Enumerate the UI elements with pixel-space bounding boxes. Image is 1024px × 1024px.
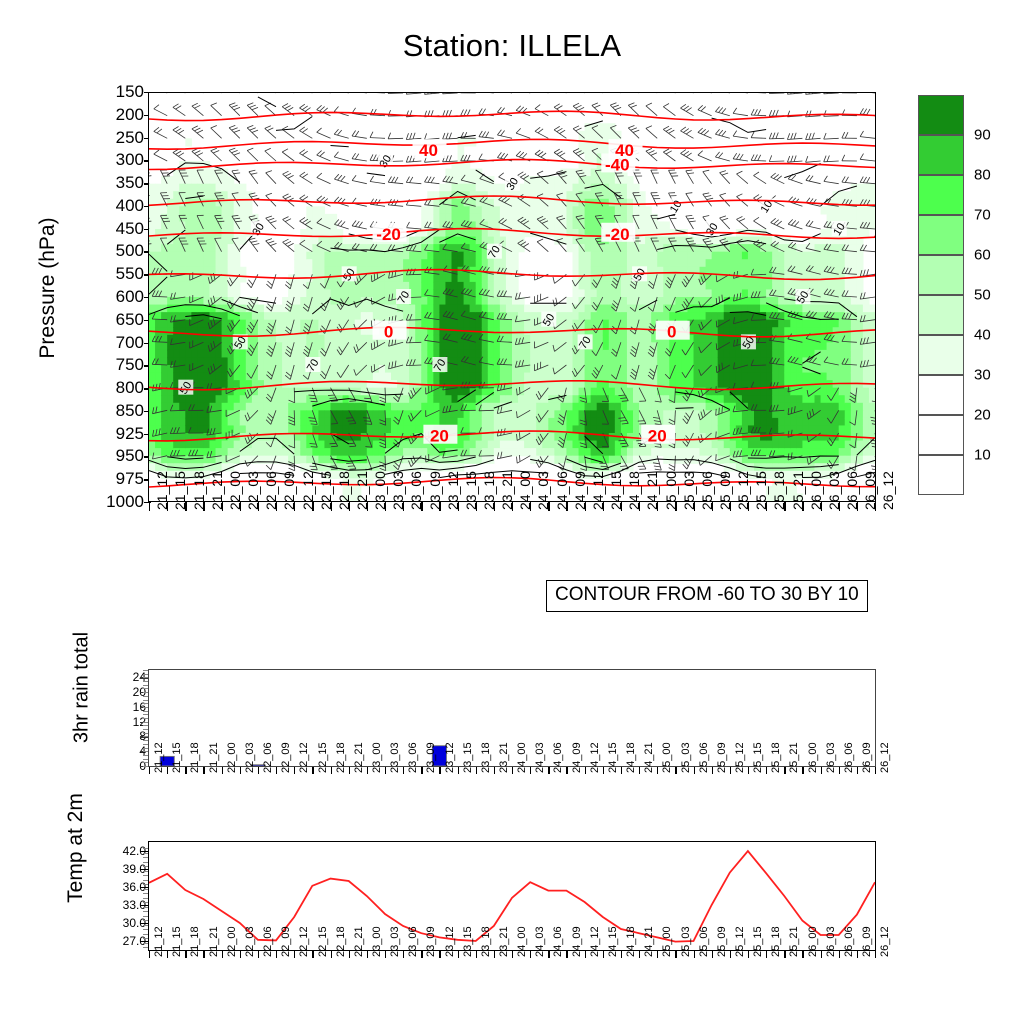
x-tick [240, 951, 241, 958]
temp-line [149, 851, 875, 942]
x-tick [349, 951, 350, 958]
x-tick [675, 767, 676, 774]
temp-panel[interactable] [148, 841, 876, 951]
colorbar-cell[interactable] [918, 375, 964, 415]
rain-bar [432, 746, 446, 766]
x-tick [403, 767, 404, 774]
x-tick [675, 951, 676, 958]
colorbar-label: 50 [974, 287, 991, 304]
rain-y-label: 12 [106, 716, 146, 728]
x-tick [857, 951, 858, 958]
x-tick [694, 767, 695, 774]
x-tick [766, 767, 767, 774]
x-tick [585, 951, 586, 958]
rain-y-axis-labels: 04812162024 [98, 669, 146, 767]
temp-y-label: 36.0 [100, 881, 146, 893]
rain-bar [251, 765, 265, 766]
x-tick [821, 951, 822, 958]
x-tick [421, 502, 422, 511]
colorbar[interactable]: 908070605040302010 [918, 95, 964, 495]
x-tick [494, 951, 495, 958]
x-tick [694, 502, 695, 511]
pressure-label: 800 [80, 379, 144, 396]
temp-line-chart [149, 842, 875, 950]
colorbar-label: 70 [974, 207, 991, 224]
x-tick [367, 767, 368, 774]
x-tick [530, 951, 531, 958]
x-tick [784, 767, 785, 774]
x-tick [294, 502, 295, 511]
x-tick [276, 767, 277, 774]
x-tick [530, 502, 531, 511]
colorbar-cell[interactable] [918, 175, 964, 215]
x-tick [367, 502, 368, 511]
x-tick [494, 502, 495, 511]
x-tick [530, 767, 531, 774]
x-tick [185, 767, 186, 774]
x-tick [675, 502, 676, 511]
x-tick [312, 951, 313, 958]
x-tick [331, 951, 332, 958]
x-tick [403, 951, 404, 958]
x-tick [603, 951, 604, 958]
temp-y-label: 30.0 [100, 917, 146, 929]
x-tick [222, 502, 223, 511]
cross-section-plot: 3050707050503050707070505050303010301010… [149, 93, 875, 501]
colorbar-cell[interactable] [918, 215, 964, 255]
x-tick [276, 502, 277, 511]
x-tick [657, 502, 658, 511]
x-tick [694, 951, 695, 958]
x-tick [730, 951, 731, 958]
x-tick [566, 951, 567, 958]
temp-y-label: 42.0 [100, 845, 146, 857]
pressure-label: 350 [80, 174, 144, 191]
pressure-label: 400 [80, 197, 144, 214]
rain-bar-chart [149, 670, 875, 766]
x-tick [875, 502, 876, 511]
temp-y-label: 27.0 [100, 935, 146, 947]
pressure-label: 1000 [80, 493, 144, 510]
temp-y-label: 33.0 [100, 899, 146, 911]
x-tick [712, 767, 713, 774]
x-tick [639, 502, 640, 511]
x-tick [657, 767, 658, 774]
colorbar-cell[interactable] [918, 455, 964, 495]
x-tick [548, 951, 549, 958]
rain-y-label: 4 [106, 745, 146, 757]
x-tick [857, 502, 858, 511]
x-tick [603, 767, 604, 774]
x-tick [439, 502, 440, 511]
x-tick [203, 767, 204, 774]
x-tick [258, 502, 259, 511]
x-tick [167, 502, 168, 511]
pressure-label: 700 [80, 334, 144, 351]
pressure-tick [144, 502, 151, 503]
x-tick [802, 502, 803, 511]
pressure-label: 200 [80, 106, 144, 123]
colorbar-cell[interactable] [918, 255, 964, 295]
x-tick [421, 951, 422, 958]
pressure-label: 300 [80, 151, 144, 168]
pressure-label: 650 [80, 311, 144, 328]
x-tick [149, 502, 150, 511]
x-tick [240, 767, 241, 774]
x-tick [857, 767, 858, 774]
pressure-label: 500 [80, 242, 144, 259]
x-tick [839, 951, 840, 958]
x-tick [167, 767, 168, 774]
main-y-axis-labels: 1502002503003504004505005506006507007508… [66, 92, 144, 502]
x-tick [367, 951, 368, 958]
x-tick [203, 951, 204, 958]
x-tick [802, 767, 803, 774]
pressure-label: 925 [80, 425, 144, 442]
x-tick [621, 767, 622, 774]
x-tick [585, 767, 586, 774]
x-tick [185, 951, 186, 958]
x-tick [748, 767, 749, 774]
x-tick [548, 767, 549, 774]
pressure-label: 950 [80, 447, 144, 464]
x-tick [476, 502, 477, 511]
x-tick [821, 502, 822, 511]
x-tick [784, 502, 785, 511]
main-y-axis-title: Pressure (hPa) [36, 178, 60, 398]
temp-y-axis-title: Temp at 2m [64, 738, 88, 958]
x-tick [167, 951, 168, 958]
x-tick [222, 767, 223, 774]
colorbar-cell[interactable] [918, 335, 964, 375]
x-tick [258, 951, 259, 958]
x-tick [439, 951, 440, 958]
x-tick [766, 502, 767, 511]
x-tick [294, 767, 295, 774]
pressure-label: 450 [80, 220, 144, 237]
x-tick [458, 502, 459, 511]
pressure-label: 850 [80, 402, 144, 419]
x-tick [331, 502, 332, 511]
x-tick [585, 502, 586, 511]
cross-section-panel[interactable]: 3050707050503050707070505050303010301010… [148, 92, 876, 502]
x-tick [476, 951, 477, 958]
x-tick [421, 767, 422, 774]
x-tick [403, 502, 404, 511]
x-tick [294, 951, 295, 958]
x-tick [240, 502, 241, 511]
x-tick [385, 951, 386, 958]
x-tick [766, 951, 767, 958]
x-tick [802, 951, 803, 958]
x-tick [621, 502, 622, 511]
x-tick [385, 502, 386, 511]
x-tick [566, 502, 567, 511]
rain-y-label: 8 [106, 730, 146, 742]
x-tick [712, 951, 713, 958]
rain-y-label: 16 [106, 701, 146, 713]
pressure-label: 550 [80, 265, 144, 282]
pressure-label: 150 [80, 83, 144, 100]
x-tick [458, 951, 459, 958]
temp-y-label: 39.0 [100, 863, 146, 875]
rain-panel[interactable] [148, 669, 876, 767]
x-tick [312, 502, 313, 511]
page-title: Station: ILLELA [0, 28, 1024, 64]
rain-y-label: 0 [106, 760, 146, 772]
x-tick [476, 767, 477, 774]
x-tick [349, 767, 350, 774]
pressure-label: 750 [80, 356, 144, 373]
x-tick [730, 767, 731, 774]
colorbar-label: 60 [974, 247, 991, 264]
x-tick [748, 502, 749, 511]
x-tick [349, 502, 350, 511]
x-tick [730, 502, 731, 511]
colorbar-label: 90 [974, 127, 991, 144]
pressure-label: 975 [80, 470, 144, 487]
x-tick [222, 951, 223, 958]
x-tick [494, 767, 495, 774]
x-tick [657, 951, 658, 958]
x-tick [458, 767, 459, 774]
x-tick [512, 767, 513, 774]
x-tick [603, 502, 604, 511]
x-tick [748, 951, 749, 958]
colorbar-cell[interactable] [918, 135, 964, 175]
colorbar-label: 20 [974, 407, 991, 424]
colorbar-cell[interactable] [918, 415, 964, 455]
colorbar-label: 40 [974, 327, 991, 344]
x-tick [149, 767, 150, 774]
x-tick [639, 767, 640, 774]
rain-bar [160, 756, 174, 766]
x-tick [639, 951, 640, 958]
rain-y-label: 20 [106, 686, 146, 698]
x-tick [875, 951, 876, 958]
x-axis-label: 26_12 [880, 471, 896, 510]
contour-note: CONTOUR FROM -60 TO 30 BY 10 [546, 580, 868, 612]
x-tick [331, 767, 332, 774]
x-tick [203, 502, 204, 511]
x-tick [385, 767, 386, 774]
x-axis-label: 26_12 [879, 742, 891, 773]
temp-y-axis-labels: 27.030.033.036.039.042.0 [92, 841, 146, 951]
x-tick [839, 767, 840, 774]
colorbar-label: 10 [974, 447, 991, 464]
x-tick [512, 502, 513, 511]
x-tick [512, 951, 513, 958]
colorbar-cell[interactable] [918, 295, 964, 335]
pressure-label: 250 [80, 129, 144, 146]
x-tick [621, 951, 622, 958]
x-tick [548, 502, 549, 511]
colorbar-label: 30 [974, 367, 991, 384]
x-tick [185, 502, 186, 511]
x-tick [439, 767, 440, 774]
x-tick [875, 767, 876, 774]
x-tick [566, 767, 567, 774]
colorbar-cell[interactable] [918, 95, 964, 135]
x-tick [276, 951, 277, 958]
x-tick [784, 951, 785, 958]
colorbar-label: 80 [974, 167, 991, 184]
x-tick [821, 767, 822, 774]
x-axis-label: 26_12 [879, 926, 891, 957]
pressure-label: 600 [80, 288, 144, 305]
x-tick [312, 767, 313, 774]
x-tick [258, 767, 259, 774]
x-tick [712, 502, 713, 511]
x-tick [149, 951, 150, 958]
rain-y-label: 24 [106, 671, 146, 683]
x-tick [839, 502, 840, 511]
